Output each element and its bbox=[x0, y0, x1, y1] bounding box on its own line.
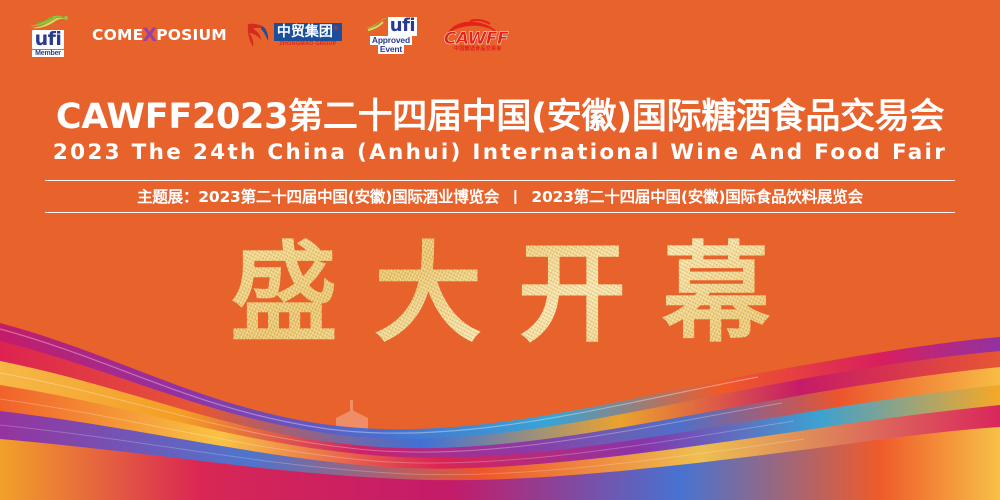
ufi-approved-wing-icon bbox=[365, 16, 387, 36]
cawff-logo: CAWFF 中国糖酒食品交易会 bbox=[440, 9, 502, 61]
ufi-wordmark: ufi bbox=[32, 30, 65, 49]
ufi-member-logo: ufi Member bbox=[22, 9, 74, 61]
sponsor-logo-bar: ufi Member COMEXPOSIUM 中贸集团® bbox=[22, 8, 442, 62]
zhongmao-mark-icon bbox=[245, 21, 271, 49]
theme-exhibition-divider: | bbox=[513, 188, 517, 205]
ufi-member-label: Member bbox=[32, 50, 64, 57]
comexposium-x-icon: X bbox=[142, 24, 157, 46]
event-banner: ufi Member COMEXPOSIUM 中贸集团® bbox=[0, 0, 1000, 500]
comexposium-part2: POSIUM bbox=[156, 26, 227, 44]
zhongmao-cn-name: 中贸集团® bbox=[274, 23, 342, 41]
comexposium-logo: COMEXPOSIUM bbox=[92, 9, 227, 61]
ufi-event-label: Event bbox=[378, 45, 404, 54]
ufi-approved-event-logo: ufi Approved Event bbox=[360, 9, 422, 61]
registered-mark-icon: ® bbox=[333, 25, 339, 32]
page-title-english: 2023 The 24th China (Anhui) Internationa… bbox=[0, 139, 1000, 166]
ufi-wordmark: ufi bbox=[388, 17, 417, 36]
grand-opening-headline: 盛大开幕 bbox=[0, 236, 1000, 354]
zhongmao-en-name: ZHONGMAO GROUP bbox=[274, 42, 342, 48]
ufi-wing-icon bbox=[27, 14, 69, 29]
comexposium-part1: COME bbox=[92, 26, 143, 44]
theme-exhibition-left: 主题展：2023第二十四届中国(安徽)国际酒业博览会 bbox=[137, 185, 499, 207]
theme-exhibition-right: 2023第二十四届中国(安徽)国际食品饮料展览会 bbox=[531, 185, 863, 207]
cawff-cn-label: 中国糖酒食品交易会 bbox=[454, 45, 502, 52]
page-title-chinese: CAWFF2023第二十四届中国(安徽)国际糖酒食品交易会 bbox=[0, 96, 1000, 138]
zhongmao-group-logo: 中贸集团® ZHONGMAO GROUP bbox=[245, 9, 342, 61]
theme-exhibitions-bar: 主题展：2023第二十四届中国(安徽)国际酒业博览会 | 2023第二十四届中国… bbox=[45, 180, 955, 213]
title-block: CAWFF2023第二十四届中国(安徽)国际糖酒食品交易会 2023 The 2… bbox=[0, 96, 1000, 166]
